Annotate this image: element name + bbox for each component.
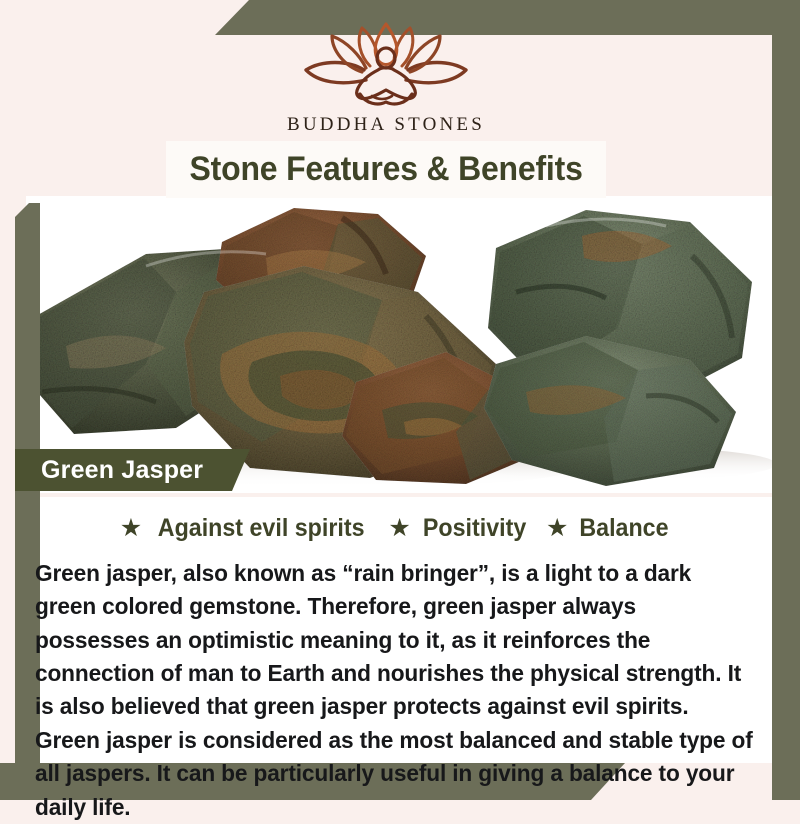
feature-list: ★ Against evil spirits ★ Positivity ★ Ba… xyxy=(40,508,752,548)
brand-logo: BUDDHA STONES xyxy=(0,22,772,136)
stone-name-banner: Green Jasper xyxy=(15,449,250,491)
lotus-meditation-icon xyxy=(296,22,476,107)
stone-photo-illustration xyxy=(26,196,772,493)
brand-name: BUDDHA STONES xyxy=(287,114,485,136)
feature-item: ★ Positivity xyxy=(388,514,530,543)
stone-name-label: Green Jasper xyxy=(41,456,203,485)
feature-label: Positivity xyxy=(423,514,526,543)
star-icon: ★ xyxy=(546,516,568,541)
page-title: Stone Features & Benefits xyxy=(166,141,606,198)
stone-description: Green jasper, also known as “rain bringe… xyxy=(35,557,754,824)
star-icon: ★ xyxy=(388,516,410,541)
frame-right-band xyxy=(772,0,800,800)
feature-item: ★ Balance xyxy=(546,514,672,543)
stone-photo xyxy=(26,196,772,493)
star-icon: ★ xyxy=(120,516,142,541)
page-title-text: Stone Features & Benefits xyxy=(189,150,582,189)
feature-item: ★ Against evil spirits xyxy=(120,514,373,543)
feature-label: Balance xyxy=(580,514,669,543)
feature-label: Against evil spirits xyxy=(158,514,365,543)
